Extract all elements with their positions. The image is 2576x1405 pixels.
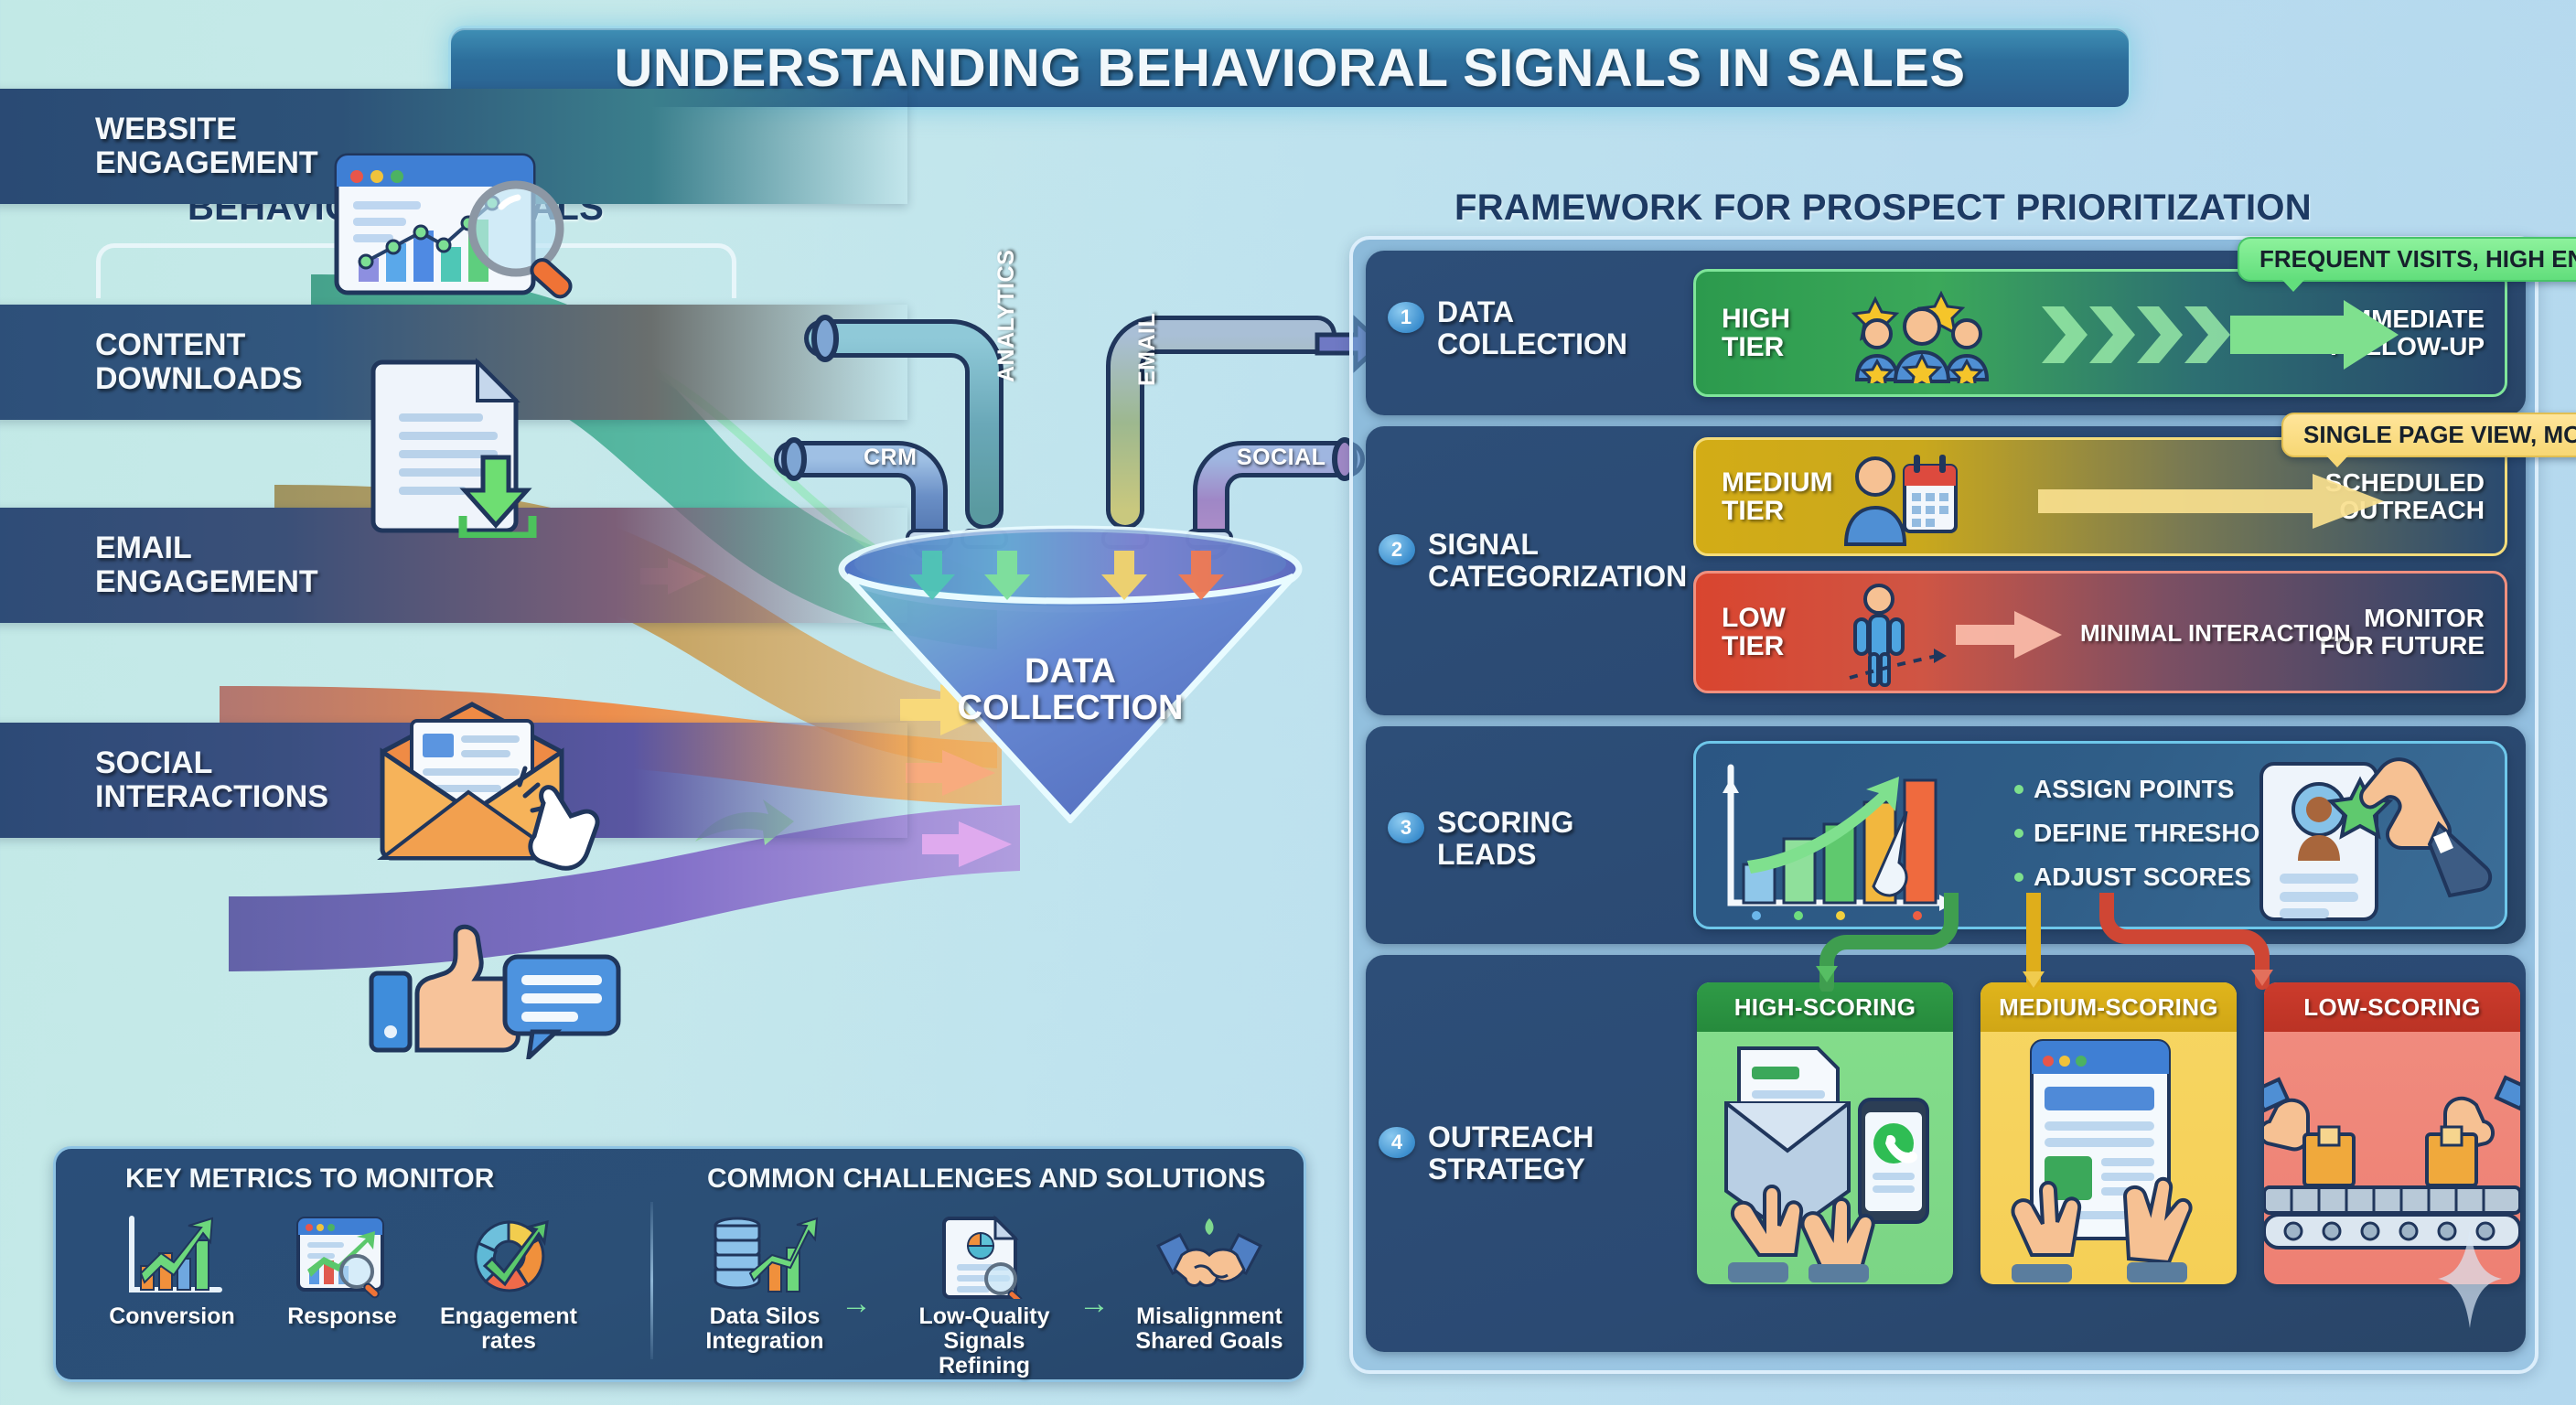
- pipe-label-social: SOCIAL: [1237, 445, 1326, 471]
- chevron-arrow-right-icon: [2038, 299, 2413, 370]
- step-header: 1 DATA COLLECTION: [1388, 296, 1627, 360]
- database-stack-chart-icon: [710, 1215, 820, 1299]
- data-collection-funnel-group: CRM ANALYTICS EMAIL SOCIAL DATA COLLECTI…: [768, 302, 1372, 823]
- signal-label: EMAIL ENGAGEMENT: [95, 531, 318, 598]
- summary-panel: KEY METRICS TO MONITOR COMMON CHALLENGES…: [53, 1146, 1306, 1382]
- three-users-stars-icon: [1844, 284, 2018, 383]
- step-number-badge: 1: [1388, 302, 1424, 333]
- tier-row-high[interactable]: HIGH TIER: [1693, 269, 2507, 397]
- tooltip-tail: [2325, 455, 2349, 467]
- metric-label: Conversion: [94, 1304, 250, 1329]
- panel-divider: [650, 1202, 653, 1359]
- thumbs-up-chat-icon: [366, 904, 622, 1059]
- challenge-low-quality-signals[interactable]: Low-Quality Signals Refining: [879, 1215, 1089, 1378]
- pipe-label-analytics: ANALYTICS: [993, 250, 1020, 382]
- pipe-label-email: EMAIL: [1134, 313, 1161, 386]
- metric-engagement-rates[interactable]: Engagement rates: [431, 1215, 586, 1354]
- tier-visual: MINIMAL INTERACTION: [1839, 574, 2320, 691]
- sparkle-decoration-icon: [2438, 1228, 2502, 1328]
- arrow-right-icon: [2038, 473, 2386, 530]
- step-header: 4 OUTREACH STRATEGY: [1379, 1121, 1594, 1185]
- challenge-label: Low-Quality Signals Refining: [879, 1304, 1089, 1378]
- challenges-heading: COMMON CHALLENGES AND SOLUTIONS: [707, 1164, 1266, 1195]
- single-person-walking-icon: [1848, 581, 1948, 689]
- metric-response[interactable]: Response: [264, 1215, 420, 1329]
- browser-chart-magnifier-icon: [329, 146, 595, 329]
- step-header: 2 SIGNAL CATEGORIZATION: [1379, 529, 1687, 593]
- key-metrics-heading: KEY METRICS TO MONITOR: [125, 1164, 494, 1195]
- step-title: SCORING LEADS: [1437, 807, 1573, 871]
- step-title: DATA COLLECTION: [1437, 296, 1627, 360]
- document-download-icon: [366, 355, 549, 538]
- challenge-misalignment[interactable]: Misalignment Shared Goals: [1113, 1215, 1305, 1354]
- dashboard-magnifier-icon: [291, 1215, 393, 1299]
- flow-arrow-icon: →: [1079, 1286, 1110, 1322]
- pipe-label-crm: CRM: [864, 445, 917, 471]
- signal-label: SOCIAL INTERACTIONS: [95, 746, 328, 813]
- tooltip-text: FREQUENT VISITS, HIGH ENGAGEMENT: [2259, 245, 2576, 273]
- framework-step-signal-categorization[interactable]: 2 SIGNAL CATEGORIZATION MEDIUM TIER: [1366, 426, 2526, 715]
- right-section-heading: FRAMEWORK FOR PROSPECT PRIORITIZATION: [1454, 188, 2312, 229]
- tier-row-low[interactable]: LOW TIER: [1693, 571, 2507, 693]
- framework-panel: 1 DATA COLLECTION HIGH TIER: [1349, 236, 2538, 1374]
- outreach-card-high-scoring[interactable]: HIGH-SCORING: [1697, 982, 1953, 1284]
- tier-name: MEDIUM TIER: [1722, 468, 1839, 526]
- step-title: OUTREACH STRATEGY: [1428, 1121, 1594, 1185]
- signal-label: WEBSITE ENGAGEMENT: [95, 113, 318, 179]
- step-header: 3 SCORING LEADS: [1388, 807, 1573, 871]
- handshake-icon: [1154, 1215, 1264, 1299]
- step-number-badge: 2: [1379, 534, 1415, 565]
- tier-note-minimal-interaction: MINIMAL INTERACTION: [2080, 619, 2351, 648]
- outreach-card-medium-scoring[interactable]: MEDIUM-SCORING: [1980, 982, 2237, 1284]
- framework-step-data-collection[interactable]: 1 DATA COLLECTION HIGH TIER: [1366, 251, 2526, 415]
- open-envelope-click-icon: [364, 697, 602, 880]
- challenge-data-silos[interactable]: Data Silos Integration: [687, 1215, 843, 1354]
- tier-row-medium[interactable]: MEDIUM TIER: [1693, 437, 2507, 556]
- envelope-phone-hands-icon: [1708, 1035, 1942, 1282]
- signal-label: CONTENT DOWNLOADS: [95, 328, 303, 395]
- metric-conversion[interactable]: Conversion: [94, 1215, 250, 1329]
- bullet-label: ADJUST SCORES: [2034, 863, 2251, 892]
- tier-visual: [1839, 272, 2330, 394]
- infographic-canvas: UNDERSTANDING BEHAVIORAL SIGNALS IN SALE…: [0, 0, 2576, 1405]
- bar-chart-up-arrow-icon: [121, 1215, 223, 1299]
- document-piechart-magnifier-icon: [937, 1215, 1032, 1299]
- bullet-dot-icon: [2014, 873, 2023, 882]
- bullet-label: ASSIGN POINTS: [2034, 775, 2234, 804]
- tooltip-medium-tier: SINGLE PAGE VIEW, MODERATE ENGAGEMENT: [2281, 413, 2576, 457]
- user-calendar-icon: [1842, 449, 1961, 548]
- tier-name: HIGH TIER: [1722, 305, 1839, 362]
- outreach-connector-arrows: [1677, 893, 2537, 992]
- step-title: SIGNAL CATEGORIZATION: [1428, 529, 1687, 593]
- tooltip-tail: [2281, 279, 2305, 292]
- funnel-label: DATA COLLECTION: [768, 654, 1372, 727]
- challenge-label: Misalignment Shared Goals: [1113, 1304, 1305, 1354]
- arrow-right-small-icon: [1956, 610, 2066, 660]
- bullet-dot-icon: [2014, 829, 2023, 838]
- flow-arrow-icon: →: [841, 1286, 872, 1322]
- metric-label: Response: [264, 1304, 420, 1329]
- funnel-and-pipes-svg: [768, 302, 1372, 823]
- tier-name: LOW TIER: [1722, 604, 1839, 661]
- tier-visual: [1839, 440, 2325, 553]
- tooltip-text: SINGLE PAGE VIEW, MODERATE ENGAGEMENT: [2303, 421, 2576, 448]
- step-number-badge: 4: [1379, 1127, 1415, 1158]
- metric-label: Engagement rates: [431, 1304, 586, 1354]
- bullet-dot-icon: [2014, 785, 2023, 794]
- tablet-content-hands-icon: [2008, 1035, 2211, 1282]
- donut-check-arrow-icon: [457, 1215, 560, 1299]
- step-number-badge: 3: [1388, 812, 1424, 843]
- challenge-label: Data Silos Integration: [687, 1304, 843, 1354]
- tooltip-high-tier: FREQUENT VISITS, HIGH ENGAGEMENT: [2238, 237, 2576, 282]
- framework-step-outreach-strategy[interactable]: 4 OUTREACH STRATEGY HIGH-SCORING: [1366, 955, 2526, 1352]
